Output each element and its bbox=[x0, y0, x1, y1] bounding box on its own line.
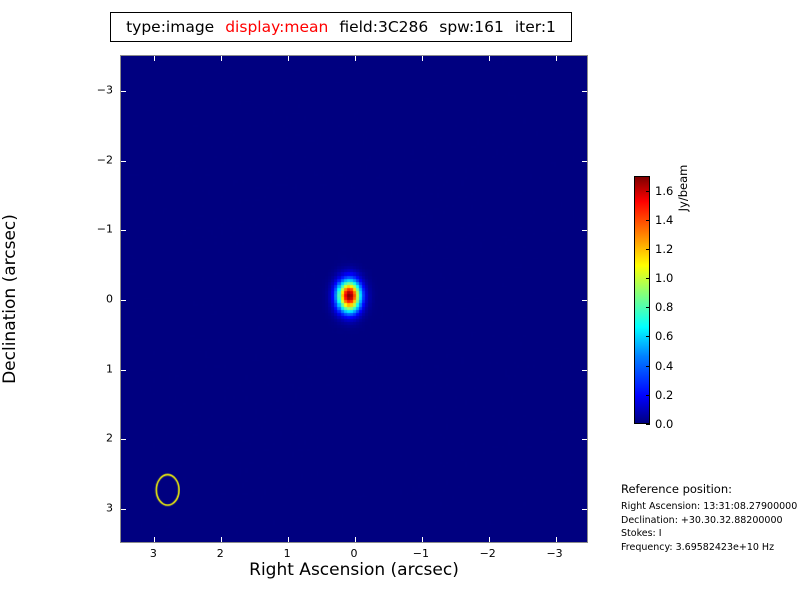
colorbar-tick bbox=[646, 191, 650, 192]
y-axis-tick bbox=[121, 439, 126, 440]
y-axis-tick bbox=[582, 300, 587, 301]
title-spw-field: spw:161 bbox=[439, 18, 504, 36]
y-axis-tick bbox=[121, 370, 126, 371]
title-field-name: field:3C286 bbox=[339, 18, 428, 36]
x-axis-tick bbox=[556, 56, 557, 61]
x-axis-tick bbox=[355, 537, 356, 542]
y-tick-label: 1 bbox=[113, 362, 120, 375]
x-axis-tick bbox=[422, 537, 423, 542]
reference-frequency: Frequency: 3.69582423e+10 Hz bbox=[621, 541, 800, 555]
y-axis-tick bbox=[582, 230, 587, 231]
colorbar-tick-label: 0.2 bbox=[655, 388, 673, 402]
x-axis-tick bbox=[288, 537, 289, 542]
colorbar-tick bbox=[646, 336, 650, 337]
x-tick-label: 1 bbox=[284, 547, 291, 560]
x-axis-tick bbox=[556, 537, 557, 542]
colorbar-tick bbox=[646, 307, 650, 308]
colorbar-tick-label: 1.0 bbox=[655, 271, 673, 285]
intensity-colorbar[interactable] bbox=[634, 176, 650, 424]
x-axis-tick bbox=[489, 537, 490, 542]
title-display-field: display:mean bbox=[225, 18, 328, 36]
x-axis-tick bbox=[221, 537, 222, 542]
x-tick-label: −3 bbox=[546, 547, 562, 560]
reference-stokes: Stokes: I bbox=[621, 527, 800, 541]
colorbar-unit-label: Jy/beam bbox=[676, 128, 692, 248]
y-tick-label: 3 bbox=[113, 502, 120, 515]
x-axis-tick bbox=[288, 56, 289, 61]
colorbar-tick-label: 1.2 bbox=[655, 242, 673, 256]
colorbar-tick bbox=[646, 366, 650, 367]
x-tick-label: 2 bbox=[217, 547, 224, 560]
x-tick-label: −2 bbox=[480, 547, 496, 560]
x-axis-tick bbox=[154, 56, 155, 61]
reference-declination: Declination: +30.30.32.88200000 bbox=[621, 514, 800, 528]
y-tick-label: −2 bbox=[113, 153, 129, 166]
x-axis-tick bbox=[489, 56, 490, 61]
title-type-field: type:image bbox=[126, 18, 214, 36]
y-axis-tick bbox=[582, 509, 587, 510]
x-tick-label: −1 bbox=[413, 547, 429, 560]
y-axis-tick bbox=[582, 161, 587, 162]
colorbar-tick bbox=[646, 220, 650, 221]
y-axis-tick bbox=[121, 300, 126, 301]
colorbar-tick bbox=[646, 424, 650, 425]
y-axis-tick bbox=[582, 370, 587, 371]
reference-position-block: Reference position: Right Ascension: 13:… bbox=[621, 482, 800, 554]
x-axis-title: Right Ascension (arcsec) bbox=[120, 560, 588, 580]
y-axis-tick bbox=[582, 439, 587, 440]
radio-intensity-map bbox=[121, 56, 587, 542]
x-axis-tick bbox=[422, 56, 423, 61]
y-axis-tick bbox=[121, 509, 126, 510]
reference-right-ascension: Right Ascension: 13:31:08.27900000 bbox=[621, 500, 800, 514]
reference-position-heading: Reference position: bbox=[621, 482, 800, 496]
image-info-title-bar: type:image display:mean field:3C286 spw:… bbox=[110, 12, 572, 42]
colorbar-tick-label: 0.8 bbox=[655, 300, 673, 314]
colorbar-tick-label: 0.6 bbox=[655, 329, 673, 343]
y-tick-label: 0 bbox=[113, 293, 120, 306]
x-tick-label: 0 bbox=[351, 547, 358, 560]
colorbar-tick-label: 0.4 bbox=[655, 359, 673, 373]
colorbar-tick-label: 1.4 bbox=[655, 213, 673, 227]
colorbar-tick bbox=[646, 278, 650, 279]
x-axis-tick bbox=[221, 56, 222, 61]
sky-image-plot[interactable] bbox=[120, 55, 588, 543]
colorbar-tick bbox=[646, 249, 650, 250]
colorbar-gradient bbox=[634, 176, 650, 424]
x-axis-tick bbox=[355, 56, 356, 61]
x-axis-tick bbox=[154, 537, 155, 542]
y-tick-label: −3 bbox=[113, 83, 129, 96]
y-axis-tick bbox=[582, 91, 587, 92]
y-axis-title: Declination (arcsec) bbox=[0, 55, 22, 543]
title-iter-field: iter:1 bbox=[515, 18, 556, 36]
x-tick-label: 3 bbox=[150, 547, 157, 560]
colorbar-tick bbox=[646, 395, 650, 396]
colorbar-tick-label: 1.6 bbox=[655, 184, 673, 198]
colorbar-tick-label: 0.0 bbox=[655, 417, 673, 431]
y-tick-label: −1 bbox=[113, 223, 129, 236]
y-tick-label: 2 bbox=[113, 432, 120, 445]
